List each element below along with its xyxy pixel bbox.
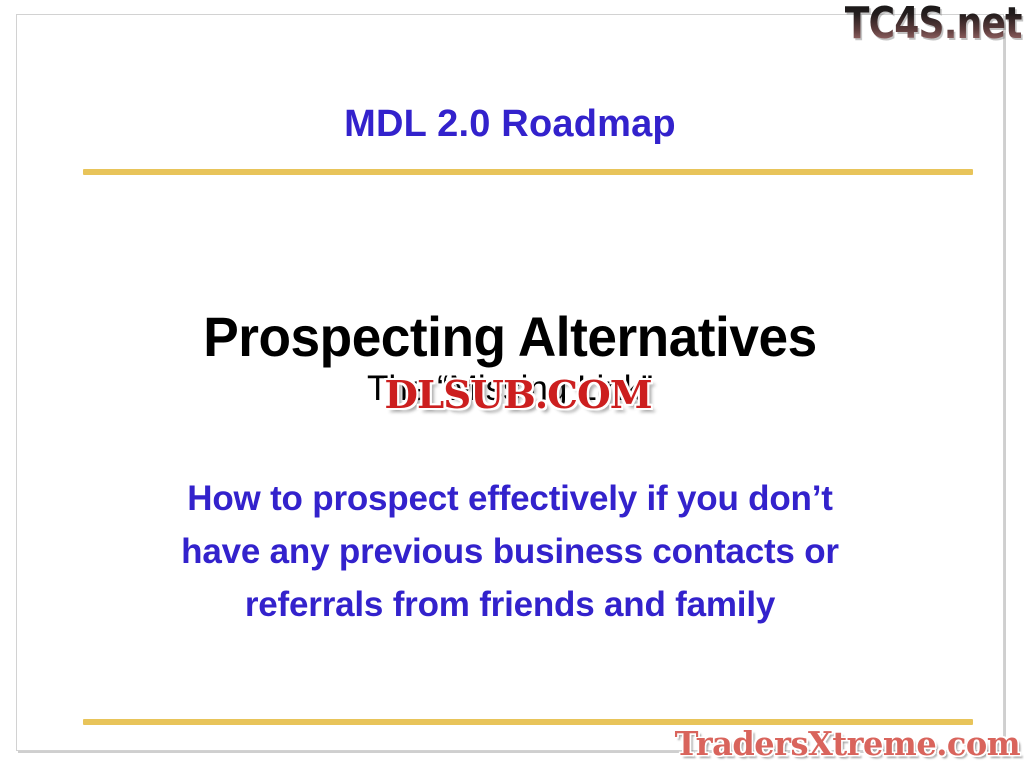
tradersxtreme-watermark: TradersXtreme.com	[675, 726, 1020, 762]
divider-top	[83, 169, 973, 175]
slide-frame: MDL 2.0 Roadmap Prospecting Alternatives…	[16, 14, 1004, 751]
body-line-3: referrals from friends and family	[17, 578, 1003, 631]
body-line-1: How to prospect effectively if you don’t	[17, 472, 1003, 525]
body-copy: How to prospect effectively if you don’t…	[17, 472, 1003, 631]
body-line-2: have any previous business contacts or	[17, 525, 1003, 578]
headline-primary: Prospecting Alternatives	[42, 307, 979, 367]
dlsub-watermark: DLSUB.COM	[384, 376, 651, 414]
page-title: MDL 2.0 Roadmap	[17, 103, 1003, 146]
tc4s-logo: TC4S.net	[845, 2, 1022, 46]
